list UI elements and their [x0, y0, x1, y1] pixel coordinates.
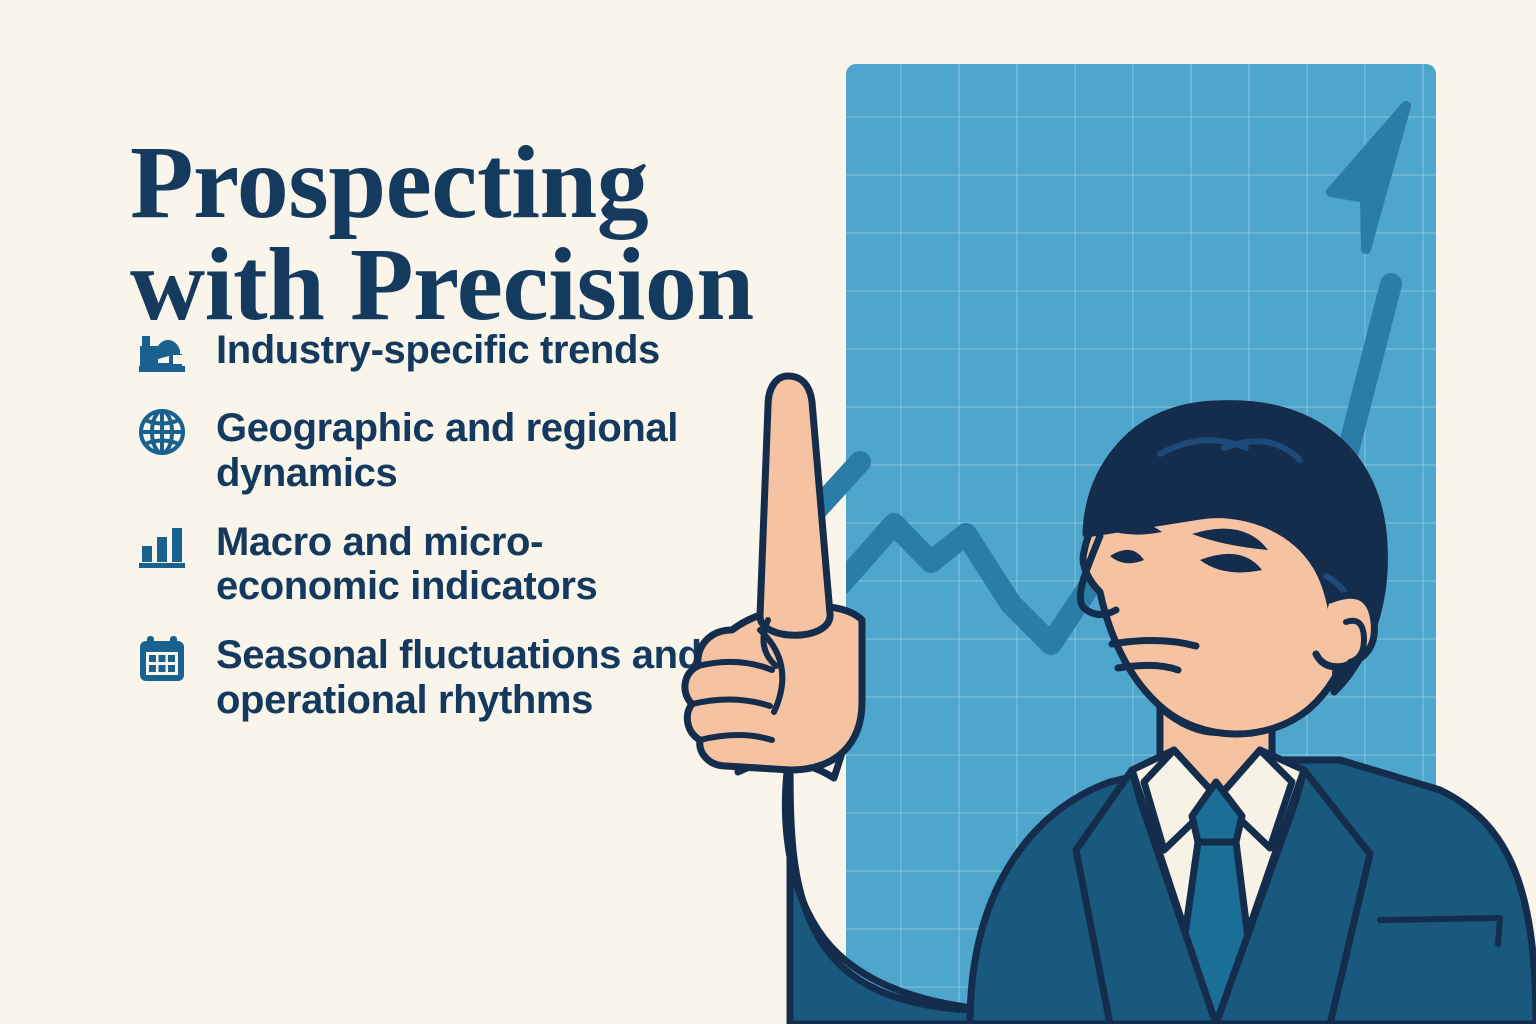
infographic-canvas: Prospecting with Precision Industry- — [0, 0, 1536, 1024]
page-title: Prospecting with Precision — [130, 132, 890, 336]
list-item-label: Industry-specific trends — [216, 326, 660, 373]
calendar-icon — [134, 631, 190, 687]
globe-icon — [134, 404, 190, 460]
pointing-hand — [685, 376, 862, 770]
businessman-illustration — [640, 330, 1536, 1024]
bar-chart-icon — [134, 518, 190, 574]
factory-icon — [134, 326, 190, 382]
head — [1080, 404, 1384, 734]
